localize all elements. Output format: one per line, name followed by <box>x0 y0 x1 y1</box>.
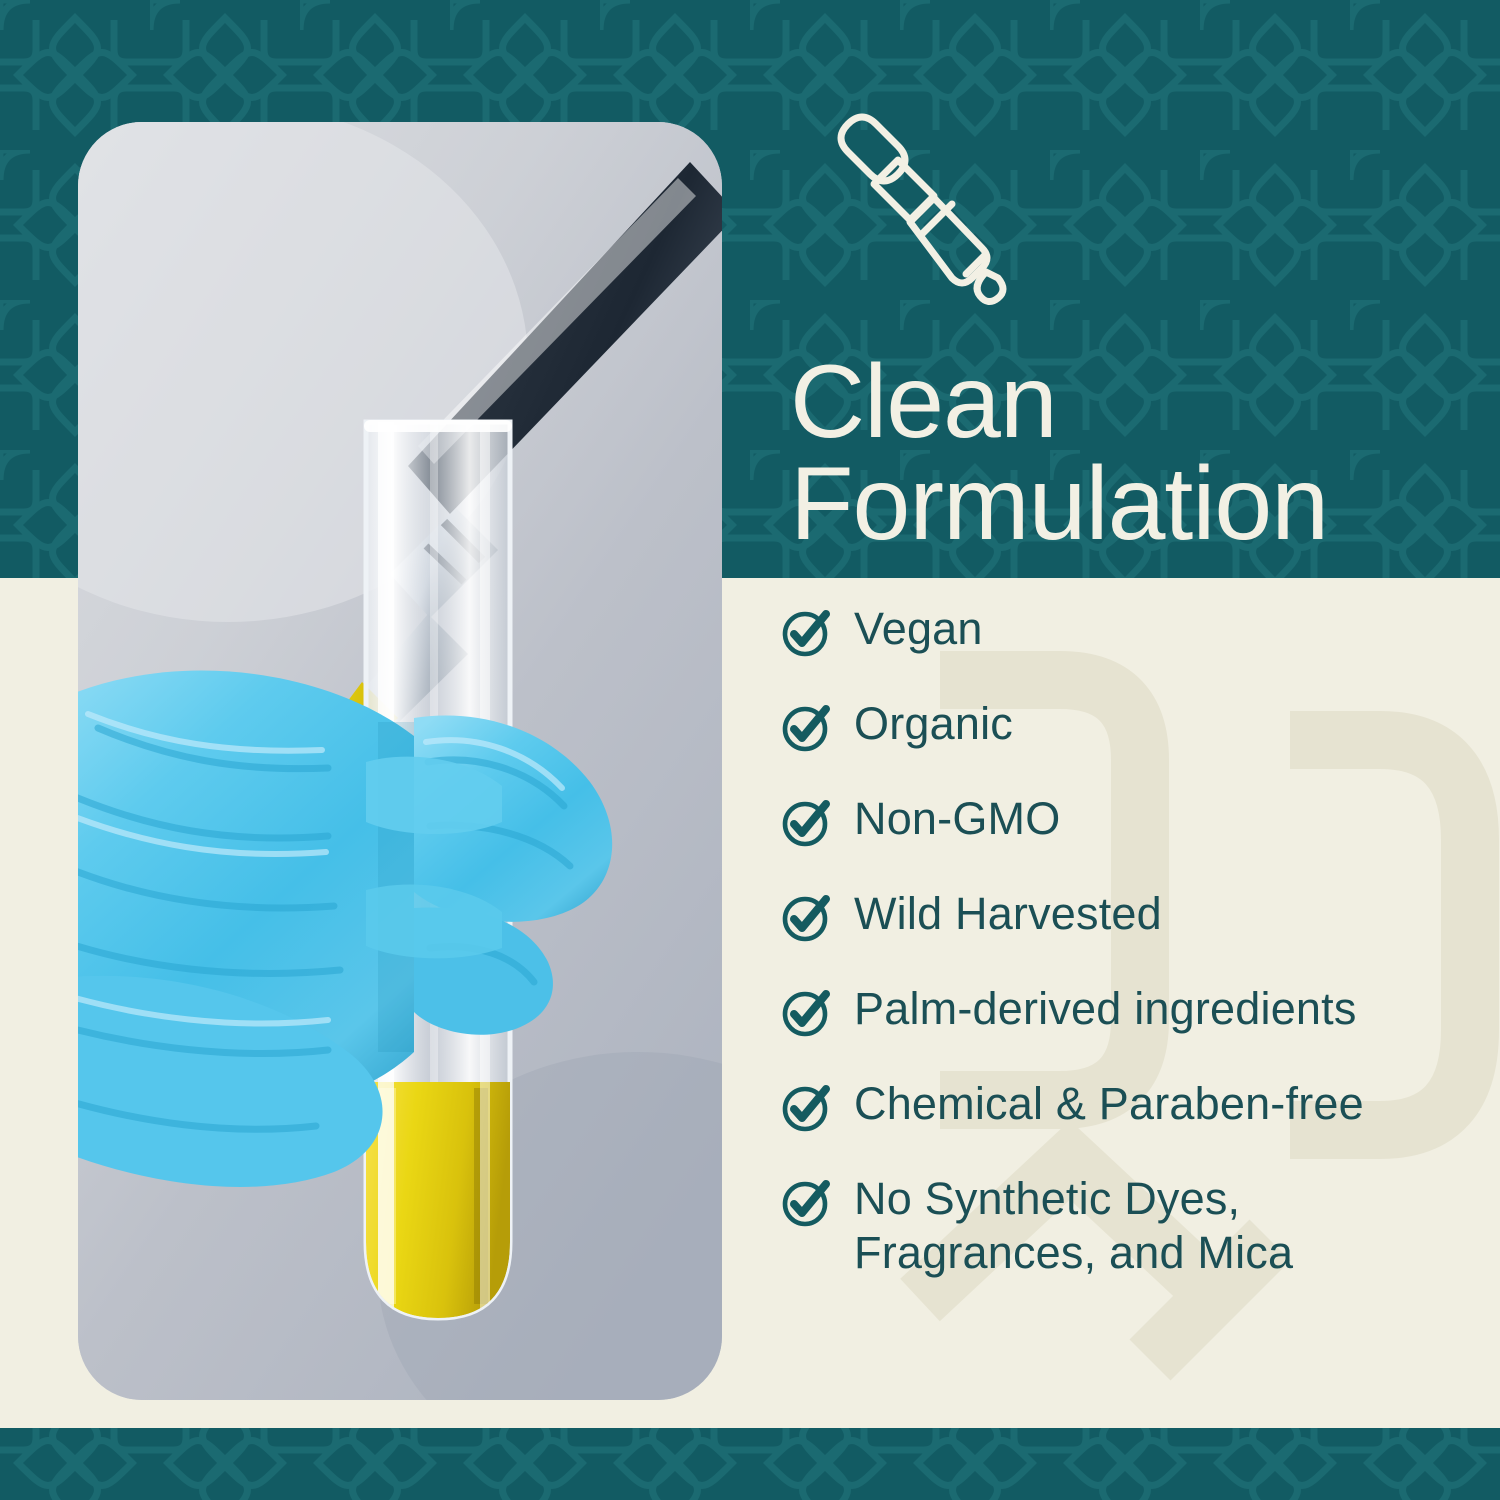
list-item-label: Chemical & Paraben-free <box>854 1077 1364 1131</box>
clean-formulation-infographic: Clean Formulation Vegan <box>0 0 1500 1500</box>
product-photo <box>78 122 722 1400</box>
list-item: Wild Harvested <box>780 887 1480 943</box>
check-circle-icon <box>780 701 832 753</box>
list-item: Organic <box>780 697 1480 753</box>
list-item-label: Non-GMO <box>854 792 1060 846</box>
list-item-label: Wild Harvested <box>854 887 1162 941</box>
check-circle-icon <box>780 1176 832 1228</box>
title-line-1: Clean <box>790 352 1480 454</box>
page-title: Clean Formulation <box>790 352 1480 556</box>
content-column: Clean Formulation Vegan <box>780 0 1480 1500</box>
check-circle-icon <box>780 891 832 943</box>
list-item-label: Vegan <box>854 602 983 656</box>
check-circle-icon <box>780 606 832 658</box>
title-line-2: Formulation <box>790 454 1480 556</box>
list-item: Vegan <box>780 602 1480 658</box>
check-circle-icon <box>780 796 832 848</box>
check-circle-icon <box>780 986 832 1038</box>
list-item: No Synthetic Dyes, Fragrances, and Mica <box>780 1172 1480 1280</box>
list-item: Non-GMO <box>780 792 1480 848</box>
check-circle-icon <box>780 1081 832 1133</box>
feature-checklist: Vegan Organic Non-GMO <box>780 602 1480 1280</box>
list-item-label: Organic <box>854 697 1013 751</box>
list-item: Palm-derived ingredients <box>780 982 1480 1038</box>
list-item-label: Palm-derived ingredients <box>854 982 1357 1036</box>
list-item-label: No Synthetic Dyes, Fragrances, and Mica <box>854 1172 1293 1280</box>
list-item: Chemical & Paraben-free <box>780 1077 1480 1133</box>
dropper-icon <box>822 108 1032 313</box>
